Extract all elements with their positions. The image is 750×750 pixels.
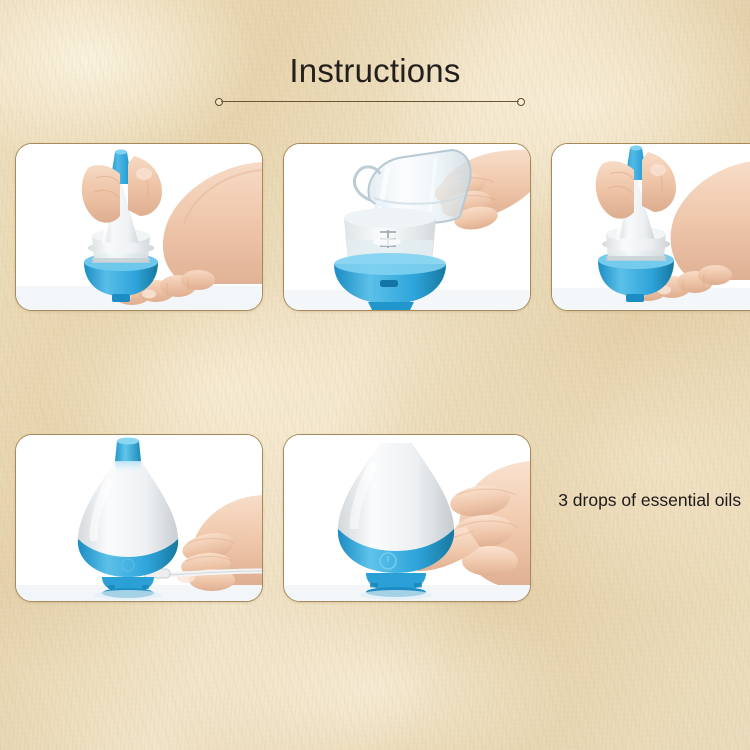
step-3-caption: 3 drops of essential oils xyxy=(529,469,741,532)
title-divider xyxy=(215,96,525,108)
instruction-sheet: Instructions xyxy=(0,0,750,750)
photo-add-essential-oils xyxy=(551,143,750,311)
page-title: Instructions xyxy=(0,52,750,90)
divider-dot-right-icon xyxy=(517,98,525,106)
paper-vignette xyxy=(0,0,750,750)
photo-open-lid-counterclockwise xyxy=(15,143,263,311)
photo-add-water xyxy=(283,143,531,311)
divider-line xyxy=(221,101,519,102)
header: Instructions xyxy=(0,52,750,90)
step-3-caption-line-1: 3 drops of essential oils xyxy=(558,490,741,510)
photo-access-to-power xyxy=(15,434,263,602)
photo-press-the-switch xyxy=(283,434,531,602)
